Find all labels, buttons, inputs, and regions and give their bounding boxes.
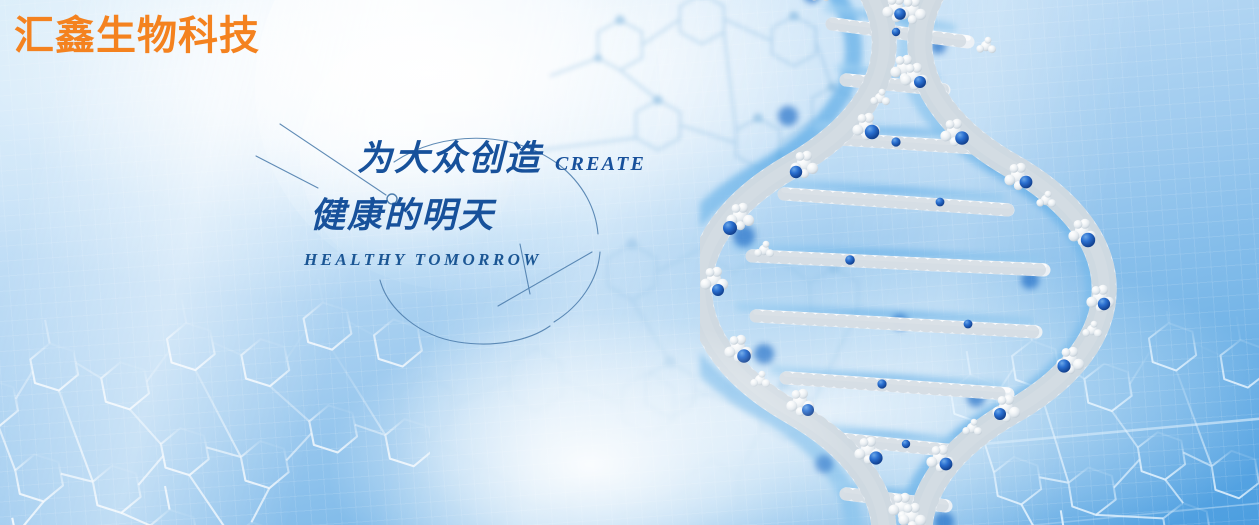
hero-banner: 汇鑫生物科技 为大众创造 CREATE xyxy=(0,0,1259,525)
headline-english-create: CREATE xyxy=(555,154,646,174)
headline-chinese-secondary: 健康的明天 xyxy=(310,199,495,234)
headline-group: 为大众创造 CREATE 健康的明天 HEALTHY TOMORROW xyxy=(262,84,682,334)
headline-english-tagline: HEALTHY TOMORROW xyxy=(304,251,542,268)
company-logo[interactable]: 汇鑫生物科技 xyxy=(14,16,260,56)
background-haze xyxy=(330,315,850,525)
headline-chinese-primary: 为大众创造 xyxy=(357,142,542,177)
headline-line-1: 为大众创造 CREATE xyxy=(357,142,646,177)
